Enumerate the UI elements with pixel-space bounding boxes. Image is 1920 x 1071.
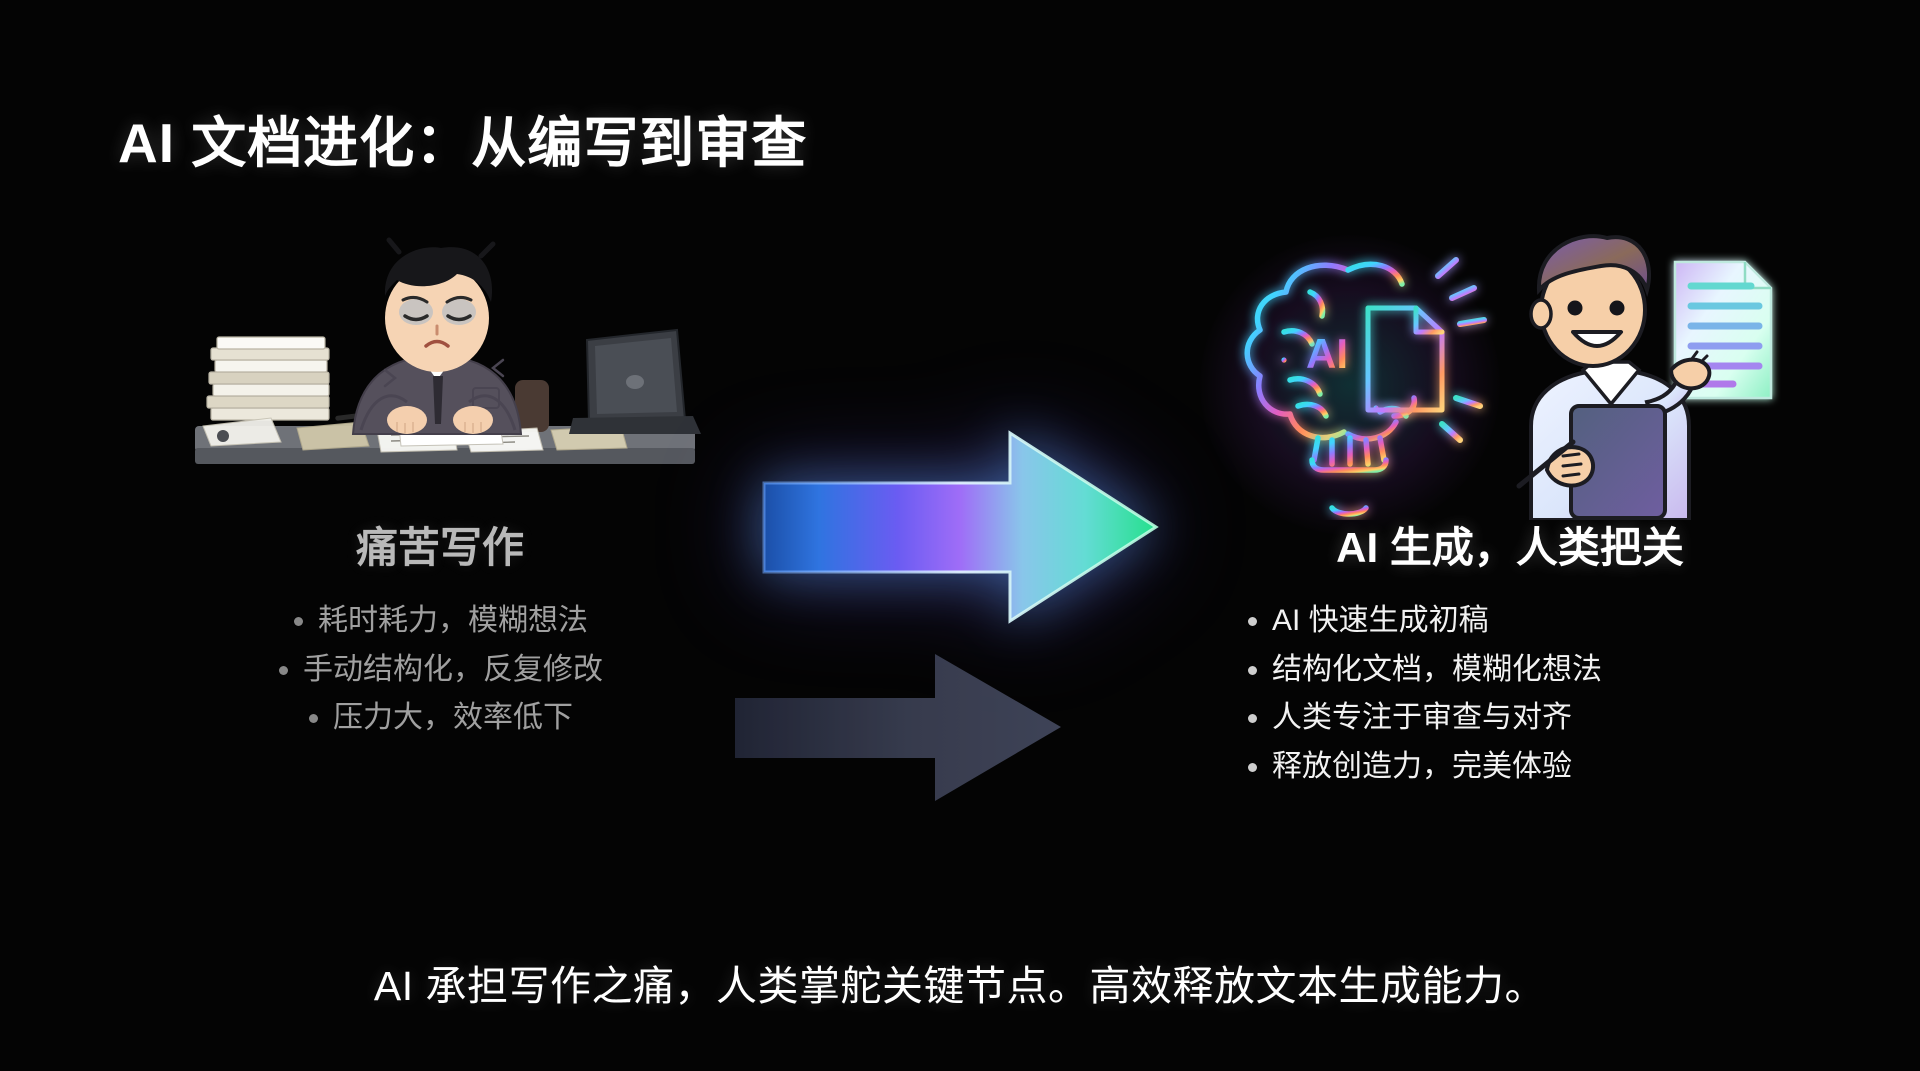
slide-canvas: AI 文档进化：从编写到审查 [0,0,1920,1071]
list-item: 释放创造力，完美体验 [1246,743,1830,792]
brain-ai-label: AI [1306,330,1348,377]
tired-writer-illustration [185,230,705,500]
list-item: 耗时耗力，模糊想法 [292,597,588,646]
transition-arrow-bright [760,415,1160,640]
left-illustration-wrap [150,230,730,500]
human-reviewer-illustration [1475,220,1805,520]
list-item: 手动结构化，反复修改 [277,646,603,695]
right-column: AI [1190,230,1830,791]
list-item: 结构化文档，模糊化想法 [1246,646,1830,695]
right-illustration-wrap: AI [1190,230,1830,500]
left-column-heading: 痛苦写作 [150,514,730,575]
left-column: 痛苦写作 耗时耗力，模糊想法 手动结构化，反复修改 压力大，效率低下 [150,230,730,743]
list-item: 人类专注于审查与对齐 [1246,694,1830,743]
ai-brain-lightbulb-illustration: AI [1198,220,1508,520]
right-column-bullets: AI 快速生成初稿 结构化文档，模糊化想法 人类专注于审查与对齐 释放创造力，完… [1246,597,1830,791]
page-title: AI 文档进化：从编写到审查 [118,98,807,178]
left-column-bullets: 耗时耗力，模糊想法 手动结构化，反复修改 压力大，效率低下 [150,597,730,743]
list-item: AI 快速生成初稿 [1246,597,1830,646]
right-column-heading: AI 生成，人类把关 [1190,514,1830,575]
transition-arrow-dark [735,640,1065,815]
list-item: 压力大，效率低下 [307,694,573,743]
summary-caption: AI 承担写作之痛，人类掌舵关键节点。高效释放文本生成能力。 [0,952,1920,1012]
